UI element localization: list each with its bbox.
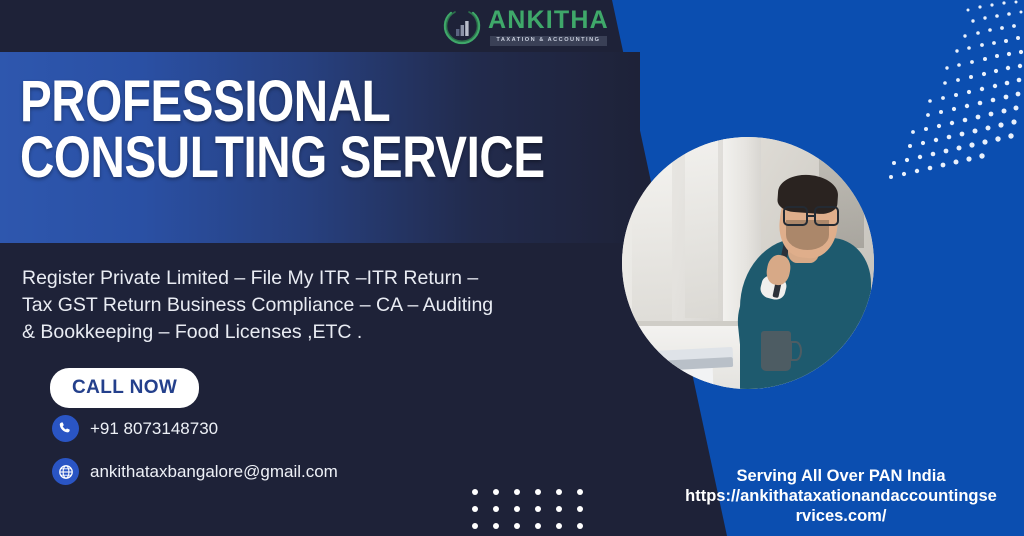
phone-number: +91 8073148730	[90, 419, 218, 439]
serving-area-text: Serving All Over PAN India	[666, 466, 1016, 486]
radial-dot-fan-decoration	[864, 0, 1024, 185]
contact-email-row[interactable]: ankithataxbangalore@gmail.com	[52, 458, 338, 485]
services-description: Register Private Limited – File My ITR –…	[22, 265, 587, 346]
website-url-line-2[interactable]: rvices.com/	[666, 506, 1016, 526]
call-now-button[interactable]: CALL NOW	[50, 368, 199, 408]
dot-grid-decoration	[470, 487, 590, 532]
contact-block: +91 8073148730 ankithataxbangalore@gmail…	[52, 415, 338, 501]
brand-logo[interactable]: ANKITHA TAXATION & ACCOUNTING	[443, 5, 608, 49]
headline-line-2: CONSULTING SERVICE	[20, 130, 496, 186]
logo-wordmark: ANKITHA	[488, 8, 609, 33]
hero-photo	[622, 137, 874, 389]
logo-tagline: TAXATION & ACCOUNTING	[490, 36, 606, 46]
globe-icon	[52, 458, 79, 485]
services-line-1: Register Private Limited – File My ITR –…	[22, 265, 587, 292]
email-address: ankithataxbangalore@gmail.com	[90, 462, 338, 482]
website-url-line-1[interactable]: https://ankithataxationandaccountingse	[666, 486, 1016, 506]
services-line-2: Tax GST Return Business Compliance – CA …	[22, 292, 587, 319]
promotional-banner: ANKITHA TAXATION & ACCOUNTING PROFESSION…	[0, 0, 1024, 536]
headline-line-1: PROFESSIONAL	[20, 74, 496, 130]
contact-phone-row[interactable]: +91 8073148730	[52, 415, 338, 442]
footer-text: Serving All Over PAN India https://ankit…	[666, 466, 1016, 526]
phone-icon	[52, 415, 79, 442]
services-line-3: & Bookkeeping – Food Licenses ,ETC .	[22, 319, 587, 346]
page-title: PROFESSIONAL CONSULTING SERVICE	[20, 74, 496, 185]
bar-chart-in-circle-icon	[443, 8, 481, 46]
